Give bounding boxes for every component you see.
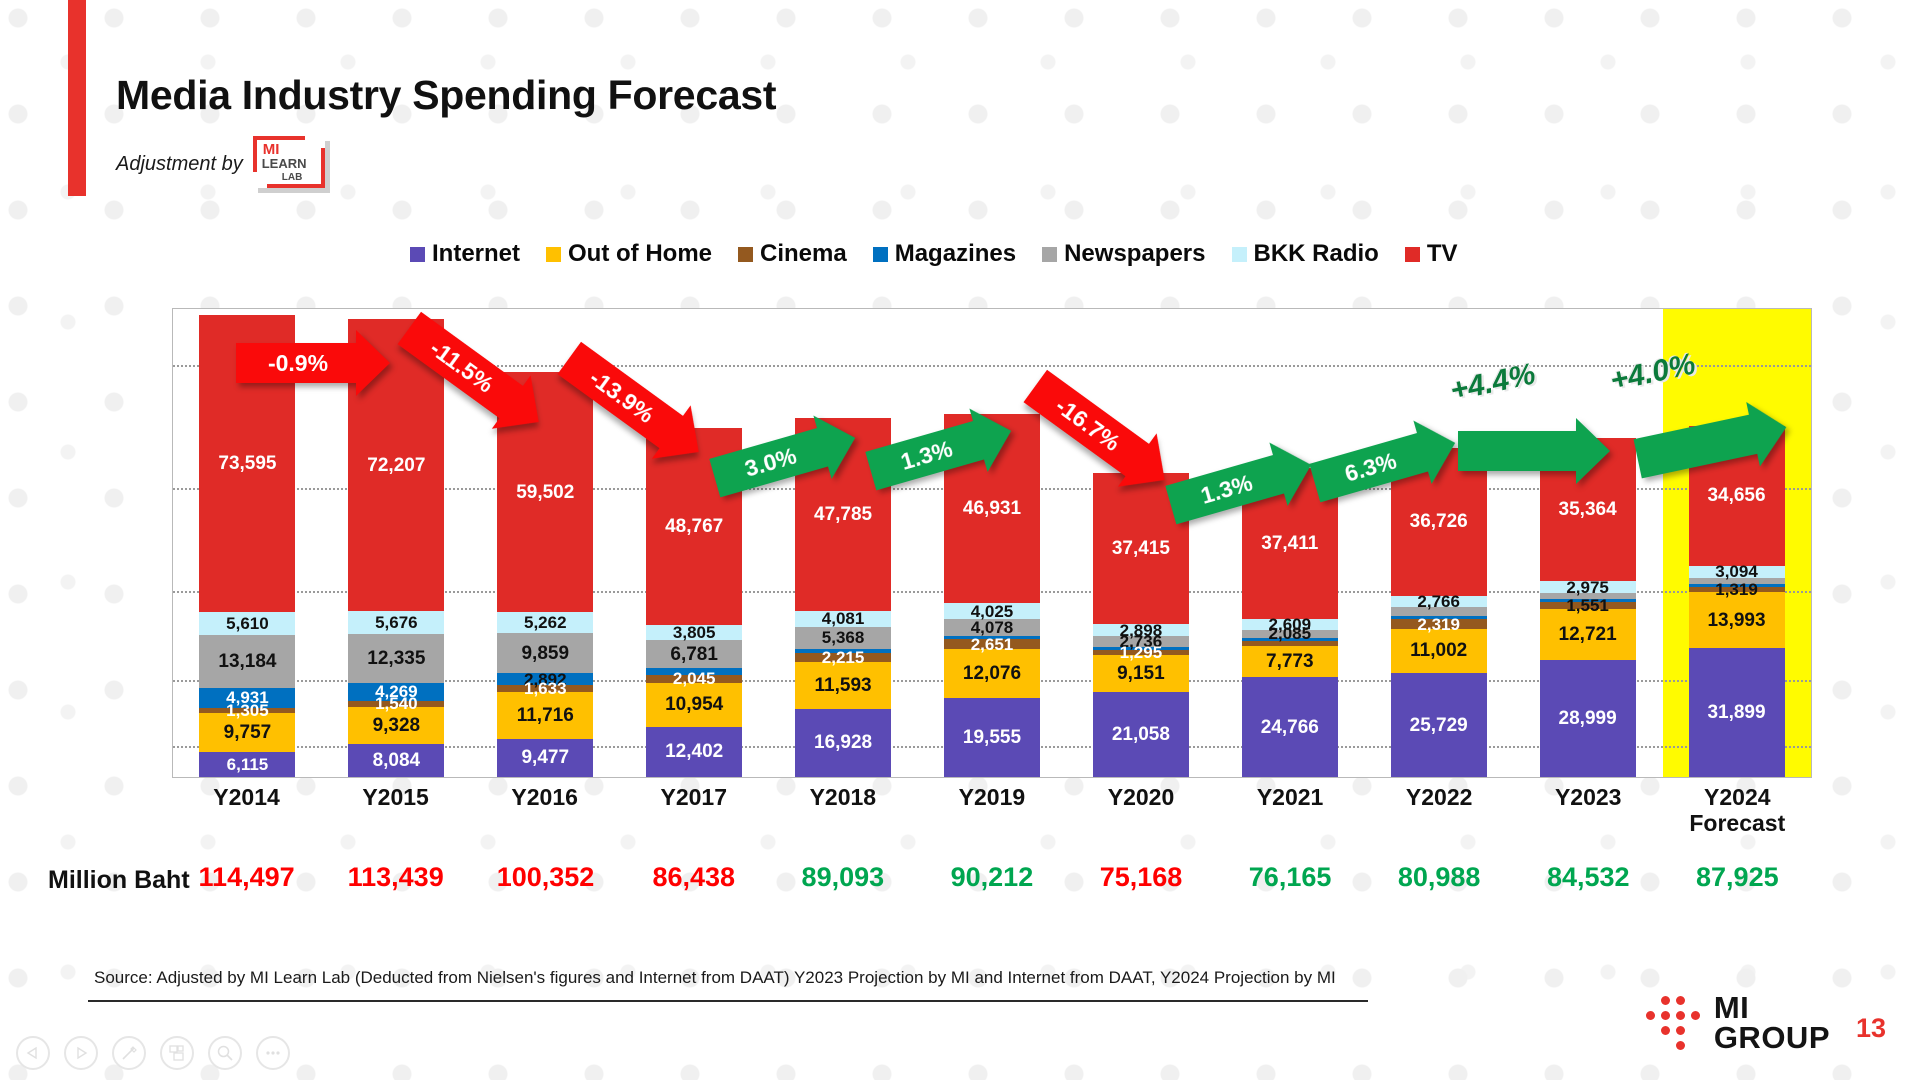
segment-value-label: 13,184 [218,652,276,671]
segment-value-label: 12,076 [963,664,1021,683]
bar-segment-out_of_home: 12,721 [1540,609,1636,660]
segment-value-label: 2,975 [1566,579,1609,596]
next-slide-button[interactable] [64,1036,98,1070]
zoom-button[interactable] [208,1036,242,1070]
segment-value-label: 19,555 [963,728,1021,747]
segment-value-label: 12,721 [1559,625,1617,644]
arrow-percent-label: 3.0% [742,442,800,482]
bar-segment-cinema: 1,633 [497,685,593,692]
arrow-head-icon [356,330,390,396]
segment-value-label: 12,335 [367,649,425,668]
total-value-y2017: 86,438 [646,862,742,893]
segment-value-label: 2,319 [1417,616,1460,633]
bar-segment-bkk_radio: 4,081 [795,611,891,627]
bar-segment-newspapers: 6,781 [646,640,742,667]
bar-segment-out_of_home: 13,993 [1689,592,1785,648]
bar-segment-cinema: 2,045 [646,675,742,683]
segment-value-label: 11,002 [1410,641,1467,660]
bar-segment-internet: 19,555 [944,698,1040,777]
bar-segment-newspapers: 5,368 [795,627,891,649]
bar-segment-bkk_radio: 3,805 [646,625,742,640]
segment-value-label: 37,415 [1112,539,1170,558]
bar-column-y2024[interactable]: 34,6563,0941,31913,99331,899 [1689,309,1785,777]
total-value-y2023: 84,532 [1540,862,1636,893]
bar-segment-newspapers: 9,859 [497,633,593,673]
x-axis-label-y2017: Y2017 [646,784,742,837]
segment-value-label: 4,078 [971,619,1014,636]
x-axis-label-y2020: Y2020 [1093,784,1189,837]
bar-segment-internet: 24,766 [1242,677,1338,777]
chart-plot-area: 73,5955,61013,1844,9311,3059,7576,11572,… [172,308,1812,778]
segment-value-label: 5,368 [822,629,865,646]
segment-value-label: 37,411 [1261,534,1318,553]
page-number: 13 [1856,1013,1886,1044]
presentation-toolbar [16,1036,290,1070]
x-axis-label-y2015: Y2015 [348,784,444,837]
total-value-y2016: 100,352 [497,862,593,893]
bar-segment-out_of_home: 11,716 [497,692,593,739]
segment-value-label: 5,610 [226,615,269,632]
bar-segment-internet: 16,928 [795,709,891,777]
logo-text-mi: MI [263,142,280,157]
legend-item-cinema[interactable]: Cinema [738,240,847,268]
segment-value-label: 1,319 [1715,581,1758,598]
bar-segment-cinema: 2,319 [1391,619,1487,628]
x-axis-labels: Y2014Y2015Y2016Y2017Y2018Y2019Y2020Y2021… [172,784,1812,837]
total-value-y2018: 89,093 [795,862,891,893]
legend-swatch-icon [1042,247,1057,262]
segment-value-label: 13,993 [1707,611,1765,630]
bar-segment-bkk_radio: 4,025 [944,603,1040,619]
segment-value-label: 4,081 [822,610,865,627]
bar-segment-bkk_radio: 2,766 [1391,596,1487,607]
segment-value-label: 72,207 [367,456,425,475]
segment-value-label: 3,805 [673,624,716,641]
source-note: Source: Adjusted by MI Learn Lab (Deduct… [94,968,1336,988]
logo-frame: MI LEARN LAB [253,136,325,188]
logo-text-lab: LAB [282,173,303,183]
bar-segment-out_of_home: 11,002 [1391,629,1487,673]
brand-line-mi: MI [1714,993,1830,1022]
bar-segment-cinema: 2,215 [795,653,891,662]
segment-value-label: 2,215 [822,649,865,666]
legend-swatch-icon [546,247,561,262]
growth-arrow-0: -0.9% [236,330,390,396]
x-axis-label-y2024: Y2024Forecast [1689,784,1785,837]
totals-row-label: Million Baht [48,866,190,895]
segment-value-label: 1,295 [1120,644,1163,661]
legend-swatch-icon [873,247,888,262]
x-axis-label-y2023: Y2023 [1540,784,1636,837]
segment-value-label: 16,928 [814,733,872,752]
total-value-y2019: 90,212 [944,862,1040,893]
x-axis-label-y2022: Y2022 [1391,784,1487,837]
x-axis-label-y2014: Y2014 [199,784,295,837]
bar-segment-out_of_home: 11,593 [795,662,891,709]
legend-item-label: BKK Radio [1254,240,1379,268]
arrow-body: -0.9% [236,343,356,383]
total-value-y2021: 76,165 [1242,862,1338,893]
bar-column-y2021[interactable]: 37,4112,6092,0857,77324,766 [1242,309,1338,777]
segment-value-label: 4,025 [971,603,1014,620]
bar-segment-internet: 9,477 [497,739,593,777]
arrow-percent-label: 6.3% [1342,447,1400,487]
arrow-head-icon [1576,418,1610,484]
legend-swatch-icon [410,247,425,262]
segment-value-label: 5,676 [375,614,418,631]
bar-segment-internet: 25,729 [1391,673,1487,777]
legend-item-bkk-radio[interactable]: BKK Radio [1232,240,1379,268]
legend-item-label: Newspapers [1064,240,1205,268]
pen-tool-button[interactable] [112,1036,146,1070]
legend-item-label: Magazines [895,240,1016,268]
segment-value-label: 36,726 [1410,512,1468,531]
segment-value-label: 9,151 [1117,664,1165,683]
segment-value-label: 28,999 [1559,709,1617,728]
logo-wordmark: MI GROUP [1714,993,1830,1052]
bar-segment-bkk_radio: 3,094 [1689,566,1785,578]
legend-item-tv[interactable]: TV [1405,240,1458,268]
segment-value-label: 59,502 [516,483,574,502]
logo-notch-top-right [305,136,325,148]
bar-segment-internet: 8,084 [348,744,444,777]
legend-item-newspapers[interactable]: Newspapers [1042,240,1205,268]
legend-item-label: Internet [432,240,520,268]
source-divider [88,1000,1368,1002]
mi-group-logo: MI GROUP [1646,993,1830,1052]
segment-value-label: 11,716 [517,706,574,725]
segment-value-label: 34,656 [1707,486,1765,505]
arrow-percent-label: 1.3% [1198,469,1256,509]
segment-value-label: 48,767 [665,517,723,536]
legend-swatch-icon [1405,247,1420,262]
segment-value-label: 2,045 [673,670,716,687]
segment-value-label: 9,477 [521,748,569,767]
bar-column-y2017[interactable]: 48,7673,8056,7812,04510,95412,402 [646,309,742,777]
segment-value-label: 73,595 [218,454,276,473]
segment-value-label: 47,785 [814,505,872,524]
bar-segment-bkk_radio: 5,610 [199,612,295,635]
segment-value-label: 1,551 [1566,597,1609,614]
arrow-body [1458,431,1576,471]
bar-column-y2019[interactable]: 46,9314,0254,0782,65112,07619,555 [944,309,1040,777]
bar-segment-out_of_home: 12,076 [944,649,1040,698]
x-axis-label-y2021: Y2021 [1242,784,1338,837]
segment-value-label: 12,402 [665,742,723,761]
brand-line-group: GROUP [1714,1023,1830,1052]
arrow-percent-label: -11.5% [425,334,499,398]
segment-value-label: 9,757 [224,723,272,742]
chart-legend: InternetOut of HomeCinemaMagazinesNewspa… [410,240,1458,268]
bar-segment-newspapers: 2,085 [1242,630,1338,638]
slide-overview-button[interactable] [160,1036,194,1070]
segment-value-label: 5,262 [524,614,567,631]
mi-learn-lab-logo: MI LEARN LAB [253,136,331,192]
total-value-y2014: 114,497 [199,862,295,893]
segment-value-label: 25,729 [1410,716,1468,735]
page-title: Media Industry Spending Forecast [116,72,776,119]
totals-row: 114,497113,439100,35286,43889,09390,2127… [172,862,1812,893]
segment-value-label: 7,773 [1266,652,1314,671]
x-axis-label-y2016: Y2016 [497,784,593,837]
segment-value-label: 3,094 [1715,563,1758,580]
segment-value-label: 6,781 [670,645,718,664]
legend-item-magazines[interactable]: Magazines [873,240,1016,268]
legend-swatch-icon [738,247,753,262]
growth-arrow-8 [1458,418,1610,484]
bar-segment-internet: 6,115 [199,752,295,777]
bar-segment-internet: 28,999 [1540,660,1636,777]
segment-value-label: 21,058 [1112,725,1170,744]
segment-value-label: 1,305 [226,702,269,719]
segment-value-label: 35,364 [1559,500,1617,519]
legend-swatch-icon [1232,247,1247,262]
segment-value-label: 2,085 [1269,625,1312,642]
segment-value-label: 11,593 [815,676,872,695]
bar-column-y2020[interactable]: 37,4152,8982,7361,2959,15121,058 [1093,309,1189,777]
x-axis-label-y2019: Y2019 [944,784,1040,837]
segment-value-label: 1,540 [375,695,418,712]
total-value-y2022: 80,988 [1391,862,1487,893]
arrow-percent-label: 1.3% [898,435,956,475]
bar-segment-internet: 21,058 [1093,692,1189,777]
bar-segment-internet: 31,899 [1689,648,1785,777]
bar-segment-newspapers: 13,184 [199,635,295,688]
bar-segment-out_of_home: 10,954 [646,683,742,727]
x-axis-label-y2018: Y2018 [795,784,891,837]
segment-value-label: 6,115 [227,756,269,773]
bar-segment-out_of_home: 7,773 [1242,646,1338,677]
adjustment-label: Adjustment by [116,153,243,176]
bar-segment-cinema: 2,651 [944,639,1040,650]
segment-value-label: 31,899 [1707,703,1765,722]
arrow-percent-label: -0.9% [268,350,328,377]
legend-item-label: TV [1427,240,1458,268]
segment-value-label: 2,651 [971,636,1014,653]
bar-segment-newspapers: 4,078 [944,619,1040,635]
legend-item-label: Out of Home [568,240,712,268]
legend-item-out-of-home[interactable]: Out of Home [546,240,712,268]
adjustment-credit: Adjustment by MI LEARN LAB [116,136,331,192]
more-options-button[interactable] [256,1036,290,1070]
total-value-y2024: 87,925 [1689,862,1785,893]
previous-slide-button[interactable] [16,1036,50,1070]
logo-text-learn: LEARN [262,157,307,170]
segment-value-label: 1,633 [524,680,567,697]
bar-segment-internet: 12,402 [646,727,742,777]
segment-value-label: 9,328 [373,716,421,735]
arrow-body [1634,415,1758,479]
bar-segment-bkk_radio: 5,262 [497,612,593,633]
total-value-y2015: 113,439 [348,862,444,893]
logo-notch-bottom-left [253,172,267,188]
legend-item-internet[interactable]: Internet [410,240,520,268]
segment-value-label: 46,931 [963,499,1021,518]
title-accent-bar [68,0,86,196]
total-value-y2020: 75,168 [1093,862,1189,893]
logo-dot-grid [1646,996,1700,1050]
legend-item-label: Cinema [760,240,847,268]
segment-value-label: 8,084 [373,751,421,770]
segment-value-label: 10,954 [665,695,723,714]
stacked-bar-series: 73,5955,61013,1844,9311,3059,7576,11572,… [173,309,1811,777]
bar-column-y2018[interactable]: 47,7854,0815,3682,21511,59316,928 [795,309,891,777]
segment-value-label: 9,859 [521,644,569,663]
presentation-slide: Media Industry Spending Forecast Adjustm… [0,0,1920,1080]
bar-segment-newspapers: 12,335 [348,634,444,684]
segment-value-label: 24,766 [1261,718,1319,737]
bar-segment-bkk_radio: 5,676 [348,611,444,634]
segment-value-label: 2,766 [1417,593,1460,610]
bar-segment-bkk_radio: 2,975 [1540,581,1636,593]
